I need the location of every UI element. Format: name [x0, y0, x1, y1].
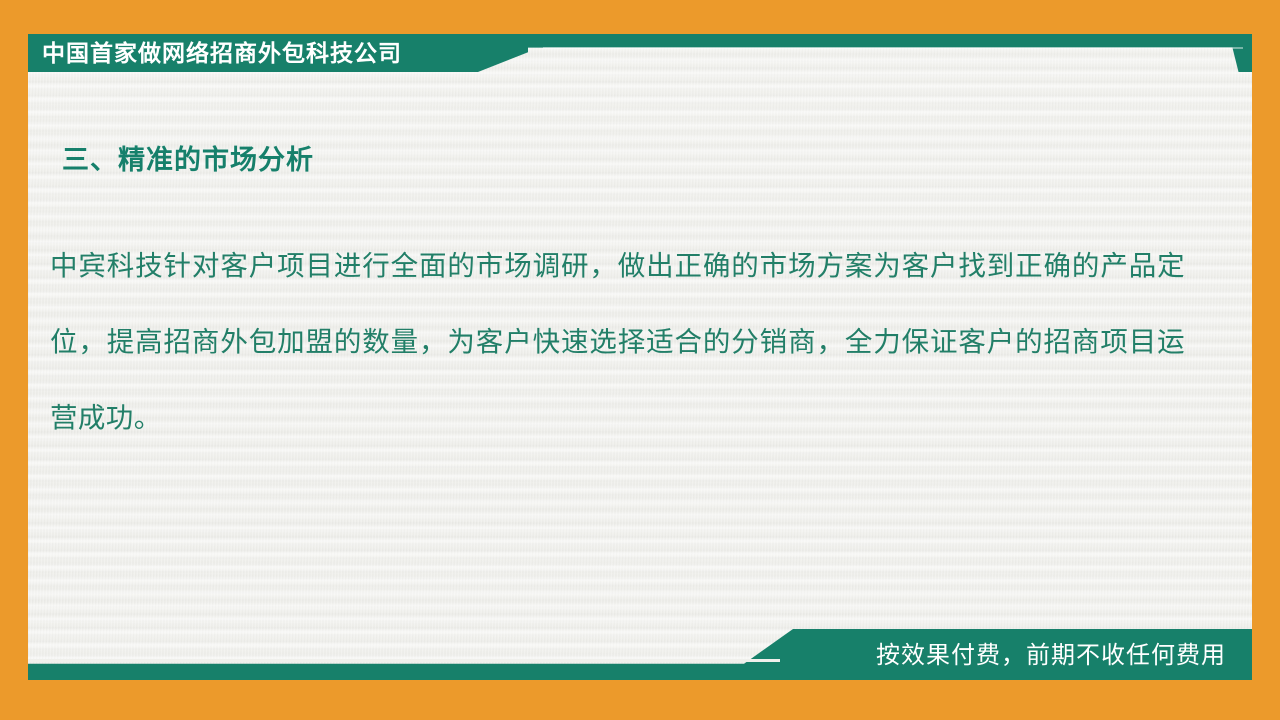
header-title-text: 中国首家做网络招商外包科技公司: [42, 34, 402, 72]
footer-slogan-text: 按效果付费，前期不收任何费用: [876, 638, 1226, 674]
footer-hairline-decoration: [28, 659, 780, 662]
header-banner: 中国首家做网络招商外包科技公司: [28, 34, 1252, 74]
header-hairline-decoration: [543, 47, 1243, 49]
slide-canvas: 中国首家做网络招商外包科技公司 三、精准的市场分析 中宾科技针对客户项目进行全面…: [0, 0, 1280, 720]
section-heading: 三、精准的市场分析: [62, 138, 314, 177]
footer-banner: 按效果付费，前期不收任何费用: [28, 620, 1252, 680]
body-paragraph: 中宾科技针对客户项目进行全面的市场调研，做出正确的市场方案为客户找到正确的产品定…: [50, 228, 1185, 456]
